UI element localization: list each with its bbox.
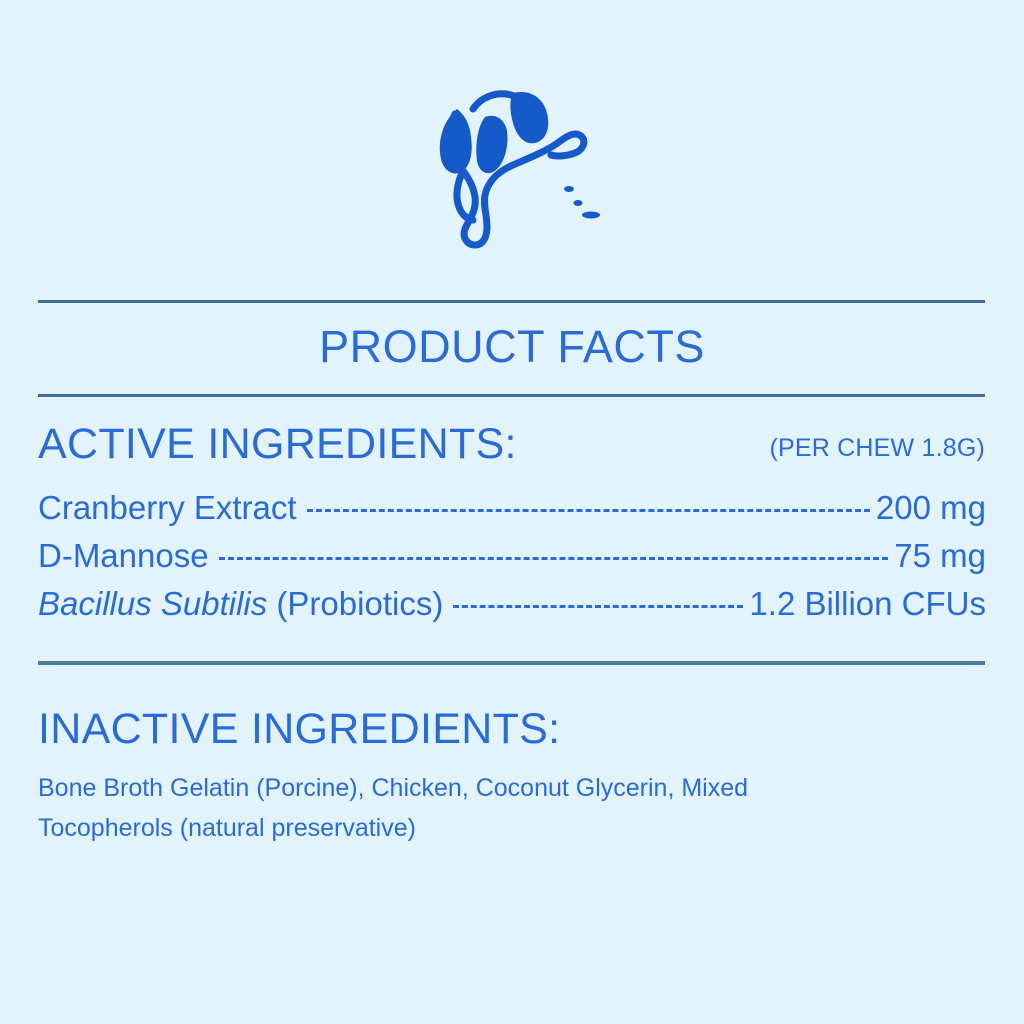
ingredient-scientific-name: Bacillus Subtilis [38, 585, 267, 622]
ingredient-row: D-Mannose 75 mg [38, 532, 986, 580]
divider-middle [38, 394, 985, 397]
divider-bottom [38, 661, 985, 665]
dog-left-ear-icon [440, 109, 472, 174]
dog-right-ear-icon [510, 92, 548, 143]
product-facts-panel: PRODUCT FACTS ACTIVE INGREDIENTS: (PER C… [0, 0, 1024, 1024]
divider-top [38, 300, 985, 303]
inactive-ingredients-heading: INACTIVE INGREDIENTS: [38, 708, 560, 751]
ingredient-amount: 200 mg [876, 484, 986, 532]
ingredient-amount: 1.2 Billion CFUs [749, 580, 986, 628]
inactive-ingredients-body: Bone Broth Gelatin (Porcine), Chicken, C… [38, 768, 868, 848]
serving-size-note: (PER CHEW 1.8G) [769, 436, 985, 461]
ingredient-name: Bacillus Subtilis (Probiotics) [38, 580, 443, 628]
ingredient-name: D-Mannose [38, 532, 209, 580]
leader-dots [219, 556, 889, 560]
page-title: PRODUCT FACTS [0, 324, 1024, 369]
active-ingredients-heading: ACTIVE INGREDIENTS: [38, 423, 517, 466]
leader-dots [307, 508, 870, 512]
ingredient-amount: 75 mg [894, 532, 986, 580]
dog-head-icon [417, 79, 607, 251]
ingredient-row: Bacillus Subtilis (Probiotics) 1.2 Billi… [38, 580, 986, 628]
active-ingredients-header: ACTIVE INGREDIENTS: (PER CHEW 1.8G) [38, 423, 985, 466]
dot-icon-2 [574, 200, 583, 206]
ingredient-name: Cranberry Extract [38, 484, 297, 532]
dot-icon-1 [564, 186, 574, 192]
active-ingredients-list: Cranberry Extract 200 mg D-Mannose 75 mg… [38, 484, 986, 628]
brand-logo [0, 72, 1024, 258]
ingredient-common-name: (Probiotics) [267, 585, 443, 622]
ingredient-common-name: Cranberry Extract [38, 489, 297, 526]
leader-dots [453, 604, 743, 608]
dot-icon-3 [582, 212, 600, 219]
ingredient-row: Cranberry Extract 200 mg [38, 484, 986, 532]
ingredient-common-name: D-Mannose [38, 537, 209, 574]
dog-blaze-icon [476, 116, 507, 173]
